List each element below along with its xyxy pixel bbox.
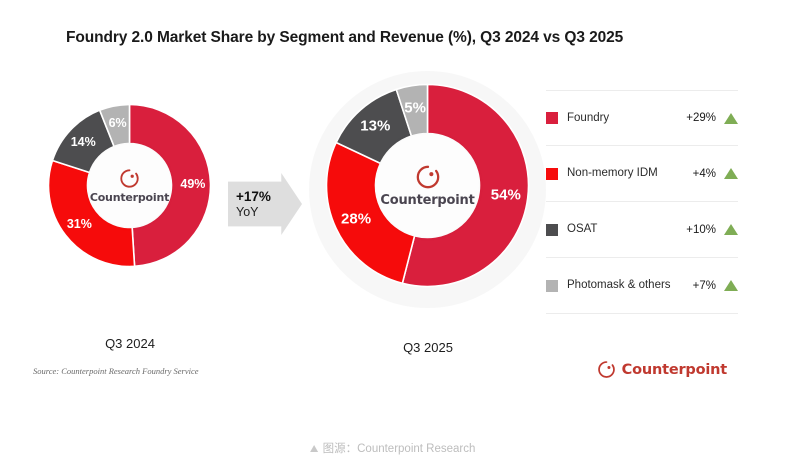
legend-label-osat: OSAT (567, 222, 686, 236)
legend-delta-photomask-others: +7% (693, 280, 716, 292)
triangle-up-icon (310, 445, 318, 452)
triangle-up-icon (724, 168, 738, 179)
legend-row-photomask-others[interactable]: Photomask & others +7% (546, 258, 738, 314)
triangle-up-icon (724, 224, 738, 235)
donut-chart-q3-2025: Counterpoint 54%28%13%5% (325, 83, 530, 288)
legend-label-photomask-others: Photomask & others (567, 278, 693, 292)
yoy-value: +17% (236, 189, 271, 205)
chart-legend: Foundry +29% Non-memory IDM +4% OSAT +10… (546, 90, 738, 314)
legend-delta-osat: +10% (686, 224, 716, 236)
chart-page: Foundry 2.0 Market Share by Segment and … (0, 0, 785, 468)
legend-label-non-memory-idm: Non-memory IDM (567, 166, 693, 180)
legend-row-foundry[interactable]: Foundry +29% (546, 90, 738, 146)
hub-brand-label: Counterpoint (380, 193, 474, 208)
legend-swatch-non-memory-idm (546, 168, 558, 180)
triangle-up-icon (724, 113, 738, 124)
hub-brand-label: Counterpoint (90, 191, 169, 204)
page-title: Foundry 2.0 Market Share by Segment and … (66, 29, 623, 47)
legend-delta-foundry: +29% (686, 112, 716, 124)
legend-swatch-osat (546, 224, 558, 236)
triangle-up-icon (724, 280, 738, 291)
brand-logo: Counterpoint (597, 360, 727, 379)
yoy-growth-badge: +17% YoY (228, 173, 302, 235)
donut-2025-hub: Counterpoint (376, 134, 479, 237)
counterpoint-circle-icon (119, 168, 140, 189)
legend-row-non-memory-idm[interactable]: Non-memory IDM +4% (546, 146, 738, 202)
footer-caption: 图源：Counterpoint Research (310, 440, 476, 456)
counterpoint-circle-icon (597, 360, 616, 379)
brand-name: Counterpoint (622, 362, 727, 378)
chart-card: Foundry 2.0 Market Share by Segment and … (0, 0, 785, 392)
legend-row-osat[interactable]: OSAT +10% (546, 202, 738, 258)
yoy-unit: YoY (236, 205, 258, 219)
source-note: Source: Counterpoint Research Foundry Se… (33, 366, 199, 376)
donut-2024-hub: Counterpoint (88, 144, 171, 227)
legend-delta-non-memory-idm: +4% (693, 168, 716, 180)
period-label-left: Q3 2024 (105, 336, 155, 351)
period-label-right: Q3 2025 (403, 340, 453, 355)
legend-swatch-foundry (546, 112, 558, 124)
counterpoint-circle-icon (415, 164, 441, 190)
legend-swatch-photomask-others (546, 280, 558, 292)
footer-caption-text: 图源：Counterpoint Research (323, 440, 476, 456)
legend-label-foundry: Foundry (567, 111, 686, 125)
donut-chart-q3-2024: Counterpoint 49%31%14%6% (47, 103, 212, 268)
